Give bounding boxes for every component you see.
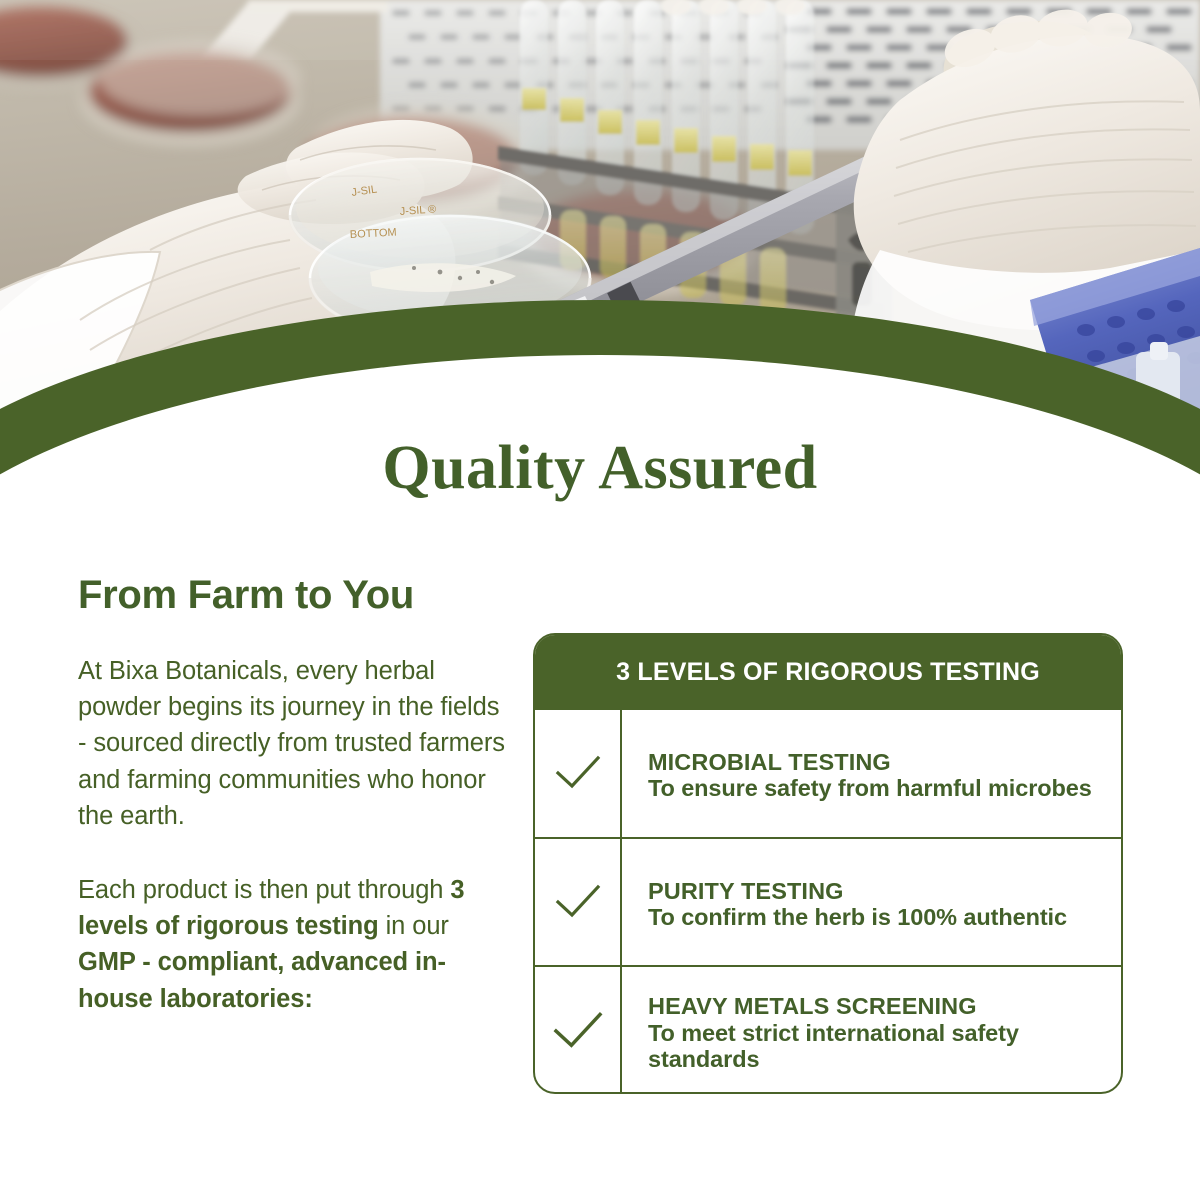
para2-bold2: GMP - compliant, advanced in-house labor… xyxy=(78,948,446,1012)
row-text: PURITY TESTING To confirm the herb is 10… xyxy=(622,839,1085,966)
section-subheading: From Farm to You xyxy=(78,573,508,617)
page-title: Quality Assured xyxy=(0,437,1200,499)
row-title: MICROBIAL TESTING xyxy=(648,749,1092,775)
intro-column: From Farm to You At Bixa Botanicals, eve… xyxy=(78,573,508,1017)
row-title: HEAVY METALS SCREENING xyxy=(648,993,1103,1019)
testing-row: MICROBIAL TESTING To ensure safety from … xyxy=(535,710,1121,837)
row-description: To meet strict international safety stan… xyxy=(648,1020,1103,1073)
poster-canvas: J-SIL J-SIL ® BOTTOM xyxy=(0,0,1200,1200)
check-icon xyxy=(553,753,603,793)
testing-row: HEAVY METALS SCREENING To meet strict in… xyxy=(535,965,1121,1094)
svg-text:BOTTOM: BOTTOM xyxy=(350,227,397,241)
card-header: 3 LEVELS OF RIGOROUS TESTING xyxy=(535,635,1121,710)
testing-levels-card: 3 LEVELS OF RIGOROUS TESTING MICROBIAL T… xyxy=(533,633,1123,1094)
check-icon xyxy=(550,1009,606,1053)
para2-part1: Each product is then put through xyxy=(78,876,450,904)
row-title: PURITY TESTING xyxy=(648,878,1067,904)
check-cell xyxy=(535,710,622,837)
row-text: HEAVY METALS SCREENING To meet strict in… xyxy=(622,967,1121,1094)
svg-text:J-SIL ®: J-SIL ® xyxy=(399,203,436,218)
row-text: MICROBIAL TESTING To ensure safety from … xyxy=(622,710,1110,837)
intro-paragraph-1: At Bixa Botanicals, every herbal powder … xyxy=(78,653,508,834)
check-cell xyxy=(535,839,622,966)
testing-row: PURITY TESTING To confirm the herb is 10… xyxy=(535,837,1121,966)
para2-part2: in our xyxy=(379,912,449,940)
check-cell xyxy=(535,967,622,1094)
card-body: MICROBIAL TESTING To ensure safety from … xyxy=(535,710,1121,1094)
check-icon xyxy=(553,882,603,922)
row-description: To confirm the herb is 100% authentic xyxy=(648,904,1067,930)
intro-paragraph-2: Each product is then put through 3 level… xyxy=(78,872,508,1017)
row-description: To ensure safety from harmful microbes xyxy=(648,775,1092,801)
